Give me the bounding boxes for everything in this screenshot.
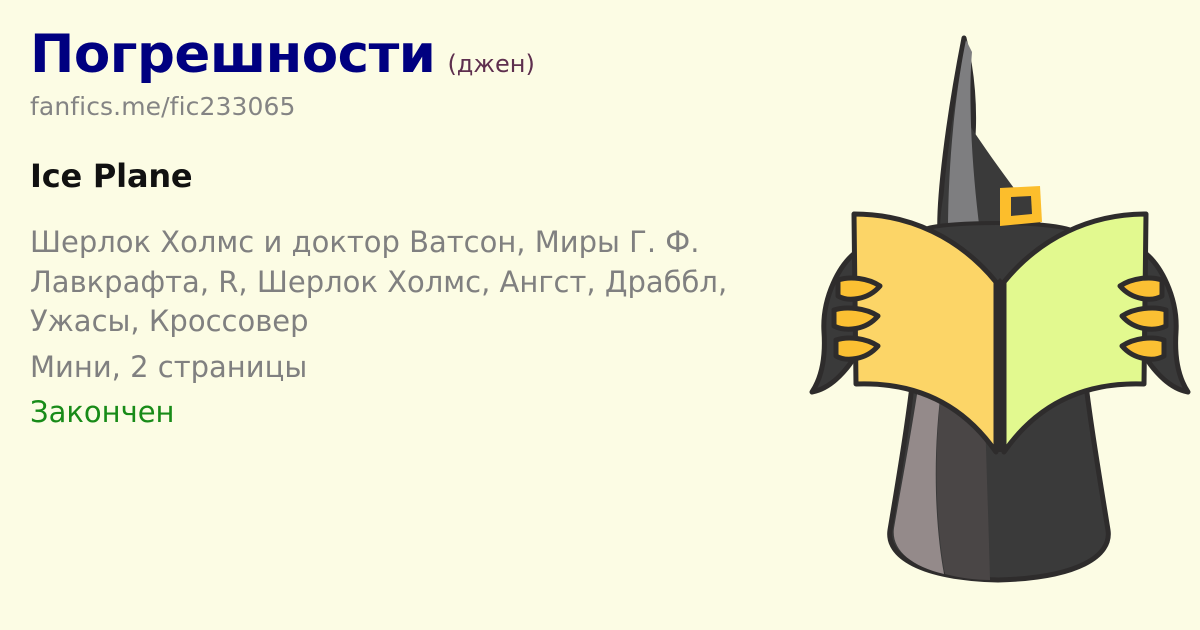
fandoms-and-tags: Шерлок Холмс и доктор Ватсон, Миры Г. Ф.… (30, 223, 770, 341)
size-and-pages: Мини, 2 страницы (30, 348, 776, 387)
title-row: Погрешности (джен) (30, 26, 776, 84)
right-hand-fingers (1120, 278, 1166, 359)
fanfic-preview-card: Погрешности (джен) fanfics.me/fic233065 … (0, 0, 1200, 630)
left-hand-fingers (834, 278, 880, 359)
metadata-block: Шерлок Холмс и доктор Ватсон, Миры Г. Ф.… (30, 223, 776, 432)
hat-buckle-hole (1011, 196, 1032, 216)
page-title: Погрешности (30, 26, 435, 84)
text-column: Погрешности (джен) fanfics.me/fic233065 … (0, 0, 800, 630)
source-url[interactable]: fanfics.me/fic233065 (30, 92, 776, 121)
book-spine (996, 278, 1004, 452)
witch-reading-book-icon (800, 0, 1200, 630)
illustration-column (800, 0, 1200, 630)
genre-label: (джен) (447, 51, 534, 77)
chapter-title: Ice Plane (30, 157, 776, 195)
status-badge: Закончен (30, 393, 776, 432)
